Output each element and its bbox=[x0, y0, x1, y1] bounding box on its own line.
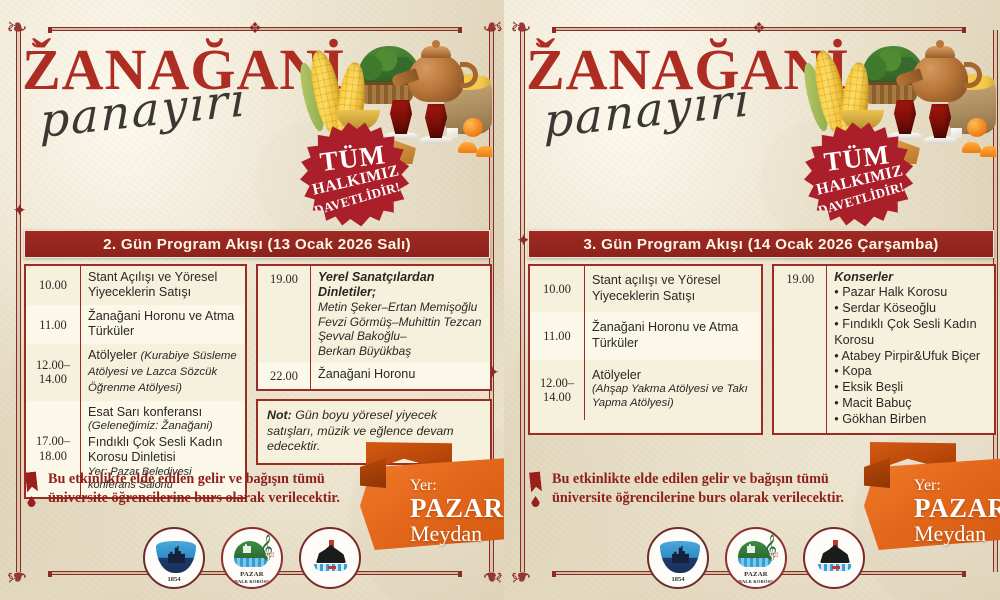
logo-pazar-belediyesi: 1854 bbox=[143, 527, 205, 589]
poster-day2: ✦ ✦ ❧ ❧ ❧ ❧ ❖ ˘ ŽANAĞANİ panayırı bbox=[0, 0, 510, 600]
scholarship-text: Bu etkinlikte elde edilen gelir ve bağış… bbox=[552, 470, 890, 508]
row-content: Žanağani Horonu ve Atma Türküler bbox=[584, 312, 761, 360]
poster-day3: ✦ ❧ ❧ ❖ ˘ ŽANAĞANİ panayırı bbox=[504, 0, 1000, 600]
music-note-icon: ♪♫ bbox=[265, 550, 275, 559]
program-header-title: 2. Gün Program Akışı (13 Ocak 2026 Salı) bbox=[103, 236, 411, 253]
list-item: Gökhan Birben bbox=[834, 412, 989, 428]
tangerine-image bbox=[463, 118, 483, 137]
tangerine-segment-image bbox=[458, 142, 477, 153]
list-item: Eksik Beşli bbox=[834, 380, 989, 396]
table-row: 12.00– 14.00 Atölyeler (Kurabiye Süsleme… bbox=[26, 344, 245, 400]
poster-pair: ✦ ✦ ❧ ❧ ❧ ❧ ❖ ˘ ŽANAĞANİ panayırı bbox=[0, 0, 1000, 600]
row-title: Atölyeler bbox=[88, 348, 137, 362]
logo-pazar-muzikseverler-dernegi bbox=[803, 527, 865, 589]
tea-glass-image bbox=[424, 104, 448, 138]
list-item: Macit Babuç bbox=[834, 396, 989, 412]
tangerine-segment-image bbox=[980, 146, 996, 157]
performer-name: Şevval Bakoğlu– bbox=[318, 329, 485, 344]
list-item: Serdar Köseoğlu bbox=[834, 301, 989, 317]
concert-list: Pazar Halk Korosu Serdar Köseoğlu Fındık… bbox=[834, 285, 989, 428]
row-time: 10.00 bbox=[530, 266, 584, 312]
row-title-2: Fındıklı Çok Sesli Kadın Korosu Dinletis… bbox=[88, 435, 240, 465]
row-time: 11.00 bbox=[530, 312, 584, 360]
tangerine-segment-image bbox=[476, 146, 492, 157]
row-time: 19.00 bbox=[258, 266, 310, 363]
tangerine-image bbox=[967, 118, 987, 137]
bookmark-icon bbox=[26, 472, 40, 507]
bookmark-icon bbox=[530, 472, 544, 507]
list-item: Pazar Halk Korosu bbox=[834, 285, 989, 301]
table-row: 11.00 Žanağani Horonu ve Atma Türküler bbox=[530, 312, 761, 360]
table-row: 22.00 Žanağani Horonu bbox=[258, 363, 490, 389]
frame-left-border: ✦ bbox=[520, 30, 525, 572]
program-table-morning: 10.00 Stant Açılışı ve Yöresel Yiyecekle… bbox=[24, 264, 247, 499]
program-table-morning: 10.00 Stant açılışı ve Yöresel Yiyecekle… bbox=[528, 264, 763, 435]
table-row: 19.00 Konserler Pazar Halk Korosu Serdar… bbox=[774, 266, 994, 433]
program-table-evening: 19.00 Yerel Sanatçılardan Dinletiler; Me… bbox=[256, 264, 492, 391]
scholarship-text: Bu etkinlikte elde edilen gelir ve bağış… bbox=[48, 470, 386, 508]
program-tables: 10.00 Stant Açılışı ve Yöresel Yiyecekle… bbox=[24, 264, 492, 499]
performer-name: Metin Şeker–Ertan Memişoğlu bbox=[318, 300, 485, 315]
frame-left-border: ✦ bbox=[16, 30, 21, 572]
music-note-icon: ♪♫ bbox=[769, 550, 779, 559]
note-label: Not: bbox=[267, 408, 292, 422]
list-item: Fındıklı Çok Sesli Kadın Korosu bbox=[834, 317, 989, 349]
scholarship-note: Bu etkinlikte elde edilen gelir ve bağış… bbox=[26, 470, 386, 508]
program-header-bar: 3. Gün Program Akışı (14 Ocak 2026 Çarşa… bbox=[528, 230, 994, 258]
sugar-cube-image bbox=[951, 128, 962, 138]
row-content: Stant açılışı ve Yöresel Yiyeceklerin Sa… bbox=[584, 266, 761, 312]
performer-name: Berkan Büyükbaş bbox=[318, 344, 485, 359]
teapot-knob-image bbox=[432, 40, 440, 48]
caron-accent-icon: ˘ bbox=[535, 38, 551, 72]
row-content: Stant Açılışı ve Yöresel Yiyeceklerin Sa… bbox=[80, 266, 245, 305]
row-detail: (Geleneğimiz: Žanağani) bbox=[88, 420, 240, 434]
program-header-bar: 2. Gün Program Akışı (13 Ocak 2026 Salı) bbox=[24, 230, 490, 258]
program-note: Not: Gün boyu yöresel yiyecek satışları,… bbox=[256, 399, 492, 465]
row-time: 12.00– 14.00 bbox=[530, 360, 584, 420]
caron-accent-icon: ˘ bbox=[31, 38, 47, 72]
tea-glass-image bbox=[928, 104, 952, 138]
program-evening-column: 19.00 Yerel Sanatçılardan Dinletiler; Me… bbox=[256, 264, 492, 499]
row-time: 10.00 bbox=[26, 266, 80, 305]
program-tables: 10.00 Stant açılışı ve Yöresel Yiyecekle… bbox=[528, 264, 996, 435]
list-item: Kopa bbox=[834, 364, 989, 380]
logo-name: PAZAR bbox=[223, 571, 281, 578]
row-heading: Konserler bbox=[834, 270, 989, 285]
row-content: Atölyeler (Kurabiye Süsleme Atölyesi ve … bbox=[80, 344, 245, 400]
row-content: Žanağani Horonu bbox=[310, 363, 490, 389]
table-row: 12.00– 14.00 Atölyeler (Ahşap Yakma Atöl… bbox=[530, 360, 761, 420]
ribbon-venue: PAZAR bbox=[914, 495, 1000, 523]
logo-pazar-belediyesi: 1854 bbox=[647, 527, 709, 589]
row-time: 19.00 bbox=[774, 266, 826, 433]
logo-pazar-halk-korosu: 𝄞 ♪♫ PAZAR HALK KOROSU bbox=[221, 527, 283, 589]
row-time: 11.00 bbox=[26, 305, 80, 344]
teapot-knob-image bbox=[936, 40, 944, 48]
diamond-icon: ❖ bbox=[248, 20, 261, 38]
sponsor-logos: 1854 𝄞 ♪♫ PAZAR HALK KOROSU bbox=[647, 527, 865, 589]
row-title: Atölyeler bbox=[592, 368, 756, 383]
row-time: 12.00– 14.00 bbox=[26, 344, 80, 400]
row-time: 22.00 bbox=[258, 363, 310, 389]
row-content: Yerel Sanatçılardan Dinletiler; Metin Şe… bbox=[310, 266, 490, 363]
logo-year: 1854 bbox=[145, 576, 203, 583]
logo-pazar-halk-korosu: 𝄞 ♪♫ PAZAR HALK KOROSU bbox=[725, 527, 787, 589]
diamond-icon: ❖ bbox=[752, 20, 765, 38]
table-row: 11.00 Žanağani Horonu ve Atma Türküler bbox=[26, 305, 245, 344]
logo-name: PAZAR bbox=[727, 571, 785, 578]
ribbon-label: Yer: bbox=[914, 478, 1000, 495]
tangerine-segment-image bbox=[962, 142, 981, 153]
row-content: Atölyeler (Ahşap Yakma Atölyesi ve Takı … bbox=[584, 360, 761, 420]
scholarship-note: Bu etkinlikte elde edilen gelir ve bağış… bbox=[530, 470, 890, 508]
row-heading: Yerel Sanatçılardan Dinletiler; bbox=[318, 270, 485, 300]
table-row: 19.00 Yerel Sanatçılardan Dinletiler; Me… bbox=[258, 266, 490, 363]
note-text: Gün boyu yöresel yiyecek satışları, müzi… bbox=[267, 408, 454, 453]
program-header-title: 3. Gün Program Akışı (14 Ocak 2026 Çarşa… bbox=[583, 236, 938, 253]
performer-name: Fevzi Görmüş–Muhittin Tezcan bbox=[318, 315, 485, 330]
row-content: Žanağani Horonu ve Atma Türküler bbox=[80, 305, 245, 344]
row-detail: (Ahşap Yakma Atölyesi ve Takı Yapma Atöl… bbox=[592, 383, 756, 410]
logo-subname: HALK KOROSU bbox=[727, 579, 785, 584]
row-title: Esat Sarı konferansı bbox=[88, 405, 240, 420]
list-item: Atabey Pirpir&Ufuk Biçer bbox=[834, 349, 989, 365]
ribbon-venue-sub: Meydan bbox=[914, 522, 1000, 545]
logo-subname: HALK KOROSU bbox=[223, 579, 281, 584]
logo-year: 1854 bbox=[649, 576, 707, 583]
logo-pazar-muzikseverler-dernegi bbox=[299, 527, 361, 589]
sugar-cube-image bbox=[447, 128, 458, 138]
program-table-concerts: 19.00 Konserler Pazar Halk Korosu Serdar… bbox=[772, 264, 996, 435]
row-content: Konserler Pazar Halk Korosu Serdar Köseo… bbox=[826, 266, 994, 433]
diamond-icon: ✦ bbox=[12, 198, 27, 224]
tea-glass-image bbox=[389, 100, 413, 134]
table-row: 10.00 Stant Açılışı ve Yöresel Yiyecekle… bbox=[26, 266, 245, 305]
table-row: 10.00 Stant açılışı ve Yöresel Yiyecekle… bbox=[530, 266, 761, 312]
tea-glass-image bbox=[893, 100, 917, 134]
sponsor-logos: 1854 𝄞 ♪♫ PAZAR HALK KOROSU bbox=[143, 527, 361, 589]
